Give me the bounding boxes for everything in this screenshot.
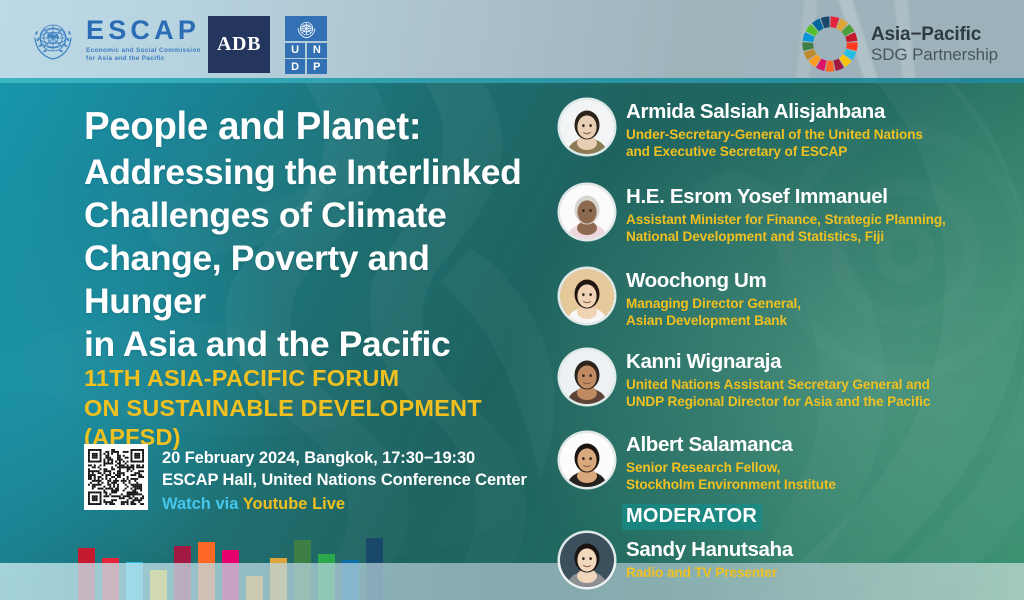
sdg-bar-7 [222,550,239,600]
moderator-label: MODERATOR [622,504,762,530]
un-emblem-icon [296,18,317,39]
avatar-esrom-yosef-immanuel [560,185,614,239]
escap-name: ESCAP [86,17,201,44]
event-subtitle: 11TH ASIA-PACIFIC FORUM ON SUSTAINABLE D… [84,364,554,453]
speaker-role-line: and Executive Secretary of ESCAP [626,143,923,160]
avatar-kanni-wignaraja [560,350,614,404]
sdg-wheel-icon [800,14,860,74]
asia-pacific-sdg-partnership-logo: Asia−Pacific SDG Partnership [800,14,998,74]
qr-code-icon[interactable] [84,444,148,510]
youtube-live-link[interactable]: Youtube Live [243,495,345,513]
speaker-role-line: UNDP Regional Director for Asia and the … [626,393,930,410]
speaker-role-line: Assistant Minister for Finance, Strategi… [626,211,946,228]
title-line-5: in Asia and the Pacific [84,323,529,366]
speaker-role: Senior Research Fellow,Stockholm Environ… [626,459,836,493]
moderator-role-line: Radio and TV Presenter [626,564,793,581]
sdg-bar-1 [78,548,95,600]
escap-tagline-line1: Economic and Social Commission [86,47,201,55]
speaker-role: Assistant Minister for Finance, Strategi… [626,211,946,245]
speaker-role-line: Stockholm Environment Institute [626,476,836,493]
undp-emblem [285,16,327,41]
sdg-bar-5 [174,546,191,600]
sdg-bar-13 [366,538,383,600]
speaker-info: Woochong Um Managing Director General,As… [626,269,801,329]
title-line-4: Change, Poverty and Hunger [84,237,529,323]
sdg-bar-9 [270,558,287,600]
sdg-bar-6 [198,542,215,600]
moderator-name: Sandy Hanutsaha [626,539,793,562]
event-stream-line[interactable]: Watch via Youtube Live [162,493,527,515]
speaker-list: Armida Salsiah Alisjahbana Under-Secreta… [560,100,1020,570]
sdg-bar-2 [102,558,119,600]
sdg-bar-4 [150,570,167,600]
undp-logo: U N D P [285,16,327,74]
page-title: People and Planet: Addressing the Interl… [84,104,529,366]
sdg-bar-3 [126,562,143,600]
escap-wordmark: ESCAP Economic and Social Commission for… [86,17,201,64]
speaker-name: Kanni Wignaraja [626,351,930,374]
event-venue: ESCAP Hall, United Nations Conference Ce… [162,470,527,492]
speaker-info: Albert Salamanca Senior Research Fellow,… [626,433,836,493]
moderator-info: Sandy Hanutsaha Radio and TV Presenter [626,533,793,581]
speaker-role: Under-Secretary-General of the United Na… [626,126,923,160]
title-line-1: People and Planet: [84,104,529,151]
speaker-info: H.E. Esrom Yosef Immanuel Assistant Mini… [626,185,946,245]
sdg-partnership-line1: Asia−Pacific [871,24,998,45]
escap-tagline-line2: for Asia and the Pacific [86,55,201,63]
sdg-bar-10 [294,540,311,600]
subtitle-line-1: 11TH ASIA-PACIFIC FORUM [84,364,554,394]
avatar-woochong-um-image [560,269,614,323]
adb-label: ADB [217,33,261,56]
undp-letter-d: D [285,59,305,74]
speaker-role: Managing Director General,Asian Developm… [626,295,801,329]
sdg-partnership-wordmark: Asia−Pacific SDG Partnership [871,24,998,65]
avatar-sandy-hanutsaha-image [560,533,614,587]
moderator-item: Sandy Hanutsaha Radio and TV Presenter [560,533,1020,587]
sdg-partnership-line2: SDG Partnership [871,45,998,65]
avatar-albert-salamanca-image [560,433,614,487]
speaker-info: Kanni Wignaraja United Nations Assistant… [626,350,930,410]
qr-code-svg [88,448,144,506]
title-line-2: Addressing the Interlinked [84,151,529,194]
speaker-role-line: Senior Research Fellow, [626,459,836,476]
avatar-kanni-wignaraja-image [560,350,614,404]
escap-tagline: Economic and Social Commission for Asia … [86,47,201,64]
event-datetime: 20 February 2024, Bangkok, 17:30−19:30 [162,448,527,470]
escap-logo: ESCAP Economic and Social Commission for… [28,15,201,65]
speaker-item: Woochong Um Managing Director General,As… [560,269,801,329]
un-emblem-icon [28,15,78,65]
title-line-3: Challenges of Climate [84,194,529,237]
speaker-role-line: Under-Secretary-General of the United Na… [626,126,923,143]
adb-logo: ADB [208,16,270,73]
speaker-name: Armida Salsiah Alisjahbana [626,101,923,124]
undp-letter-n: N [307,43,327,58]
event-info-block: 20 February 2024, Bangkok, 17:30−19:30 E… [84,444,527,515]
moderator-block: MODERATOR Sandy Hanutsaha Radio and TV P… [560,504,1020,587]
speaker-name: H.E. Esrom Yosef Immanuel [626,186,946,209]
avatar-armida-salsiah-alisjahbana [560,100,614,154]
sdg-bar-12 [342,560,359,600]
sdg-bar-8 [246,576,263,600]
speaker-role-line: United Nations Assistant Secretary Gener… [626,376,930,393]
speaker-item: Kanni Wignaraja United Nations Assistant… [560,350,930,410]
avatar-esrom-yosef-immanuel-image [560,185,614,239]
speaker-role-line: National Development and Statistics, Fij… [626,228,946,245]
event-info-text: 20 February 2024, Bangkok, 17:30−19:30 E… [162,444,527,515]
undp-letter-grid: U N D P [285,43,327,75]
watch-via-label: Watch via [162,495,238,513]
speaker-item: H.E. Esrom Yosef Immanuel Assistant Mini… [560,185,946,245]
speaker-item: Armida Salsiah Alisjahbana Under-Secreta… [560,100,923,160]
avatar-sandy-hanutsaha [560,533,614,587]
sdg-bar-11 [318,554,335,600]
undp-letter-p: P [307,59,327,74]
avatar-albert-salamanca [560,433,614,487]
speaker-role-line: Asian Development Bank [626,312,801,329]
event-poster: ESCAP Economic and Social Commission for… [0,0,1024,600]
un-emblem-svg [28,15,78,65]
speaker-name: Woochong Um [626,270,801,293]
header-bar: ESCAP Economic and Social Commission for… [0,0,1024,83]
speaker-item: Albert Salamanca Senior Research Fellow,… [560,433,836,493]
sdg-color-bars [78,538,383,600]
avatar-woochong-um [560,269,614,323]
undp-letter-u: U [285,43,305,58]
sdg-wheel-svg [800,14,860,74]
speaker-role-line: Managing Director General, [626,295,801,312]
speaker-role: United Nations Assistant Secretary Gener… [626,376,930,410]
speaker-name: Albert Salamanca [626,434,836,457]
moderator-role: Radio and TV Presenter [626,564,793,581]
speaker-info: Armida Salsiah Alisjahbana Under-Secreta… [626,100,923,160]
avatar-armida-salsiah-alisjahbana-image [560,100,614,154]
